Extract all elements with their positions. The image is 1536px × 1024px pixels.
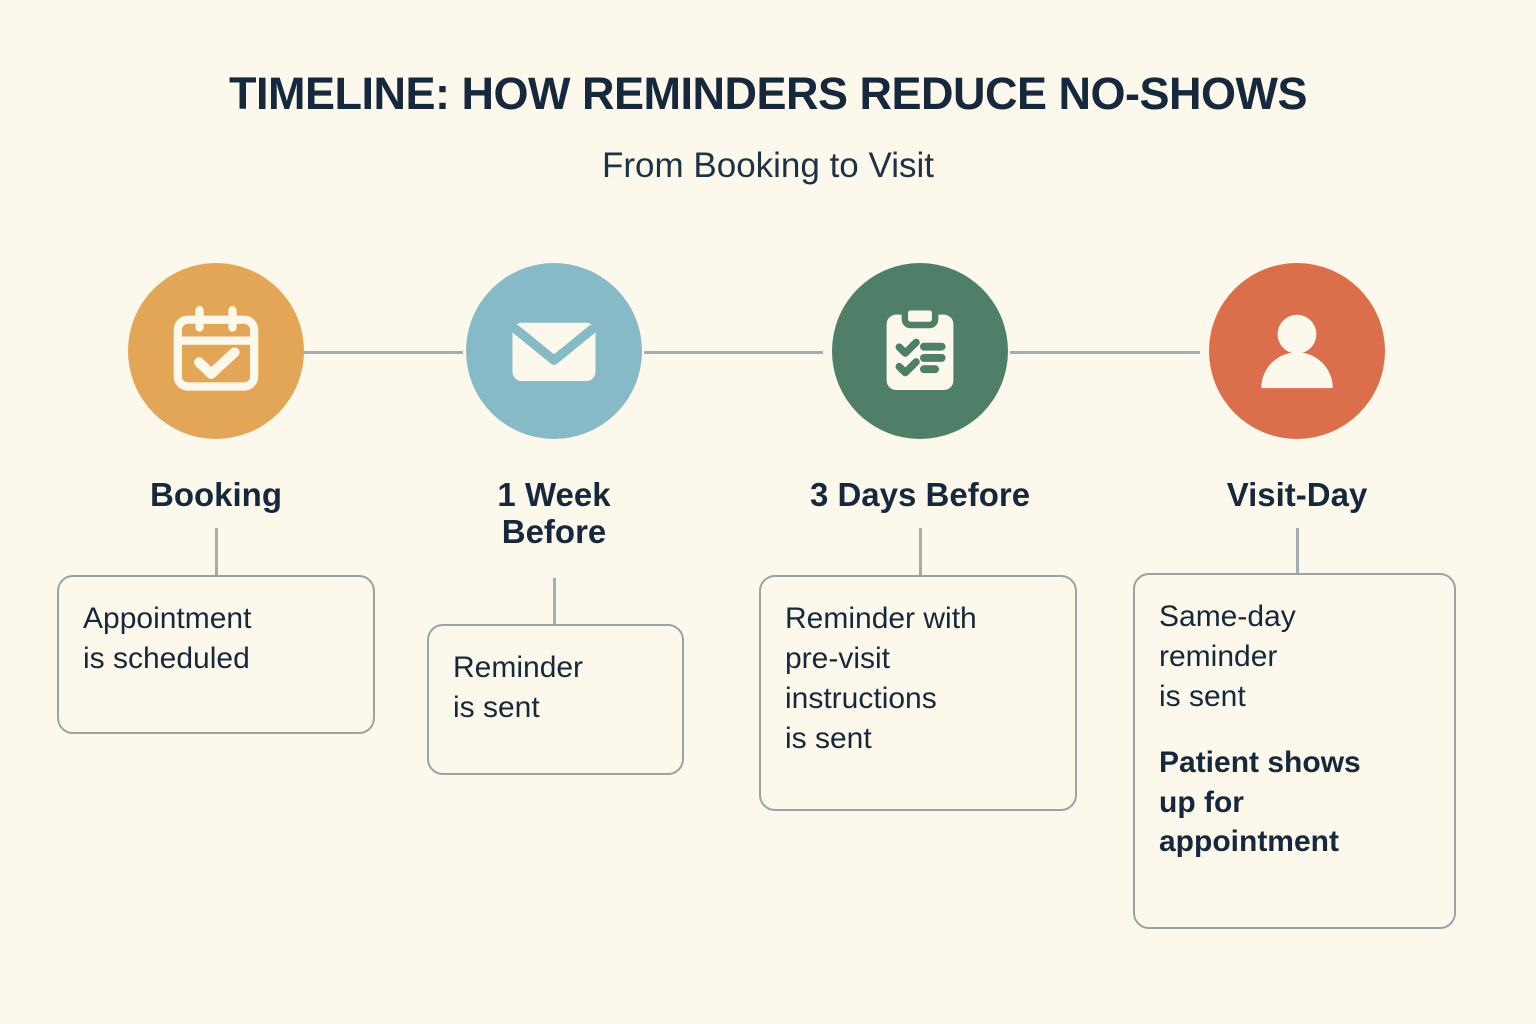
node-circle-three-days [832,263,1008,439]
stem-one-week [553,578,556,625]
rail-segment-1 [303,351,463,354]
step-card-text-visit-day: Same-day reminder is sent [1159,597,1430,717]
person-icon [1244,298,1350,404]
step-card-one-week: Reminder is sent [427,624,684,775]
node-circle-booking [128,263,304,439]
step-card-text-three-days: Reminder with pre-visit instructions is … [785,599,1051,759]
step-label-booking: Booking [76,477,356,514]
page-title: TIMELINE: HOW REMINDERS REDUCE NO-SHOWS [0,68,1536,120]
stem-three-days [919,528,922,576]
node-circle-one-week [466,263,642,439]
clipboard-checklist-icon [868,299,972,403]
rail-segment-2 [644,351,823,354]
step-card-visit-day: Same-day reminder is sent Patient shows … [1133,573,1456,929]
step-card-booking: Appointment is scheduled [57,575,375,734]
step-label-three-days: 3 Days Before [780,477,1060,514]
step-label-one-week: 1 Week Before [414,477,694,551]
step-label-visit-day: Visit-Day [1157,477,1437,514]
page-subtitle: From Booking to Visit [0,146,1536,186]
stem-visit-day [1296,528,1299,574]
step-card-three-days: Reminder with pre-visit instructions is … [759,575,1077,811]
rail-segment-3 [1010,351,1200,354]
envelope-icon [501,298,607,404]
stem-booking [215,528,218,576]
step-card-text-booking: Appointment is scheduled [83,599,349,679]
step-card-text-one-week: Reminder is sent [453,648,658,728]
calendar-check-icon [164,299,268,403]
infographic-canvas: TIMELINE: HOW REMINDERS REDUCE NO-SHOWS … [0,0,1536,1024]
step-card-emphasis-visit-day: Patient shows up for appointment [1159,743,1430,863]
node-circle-visit-day [1209,263,1385,439]
